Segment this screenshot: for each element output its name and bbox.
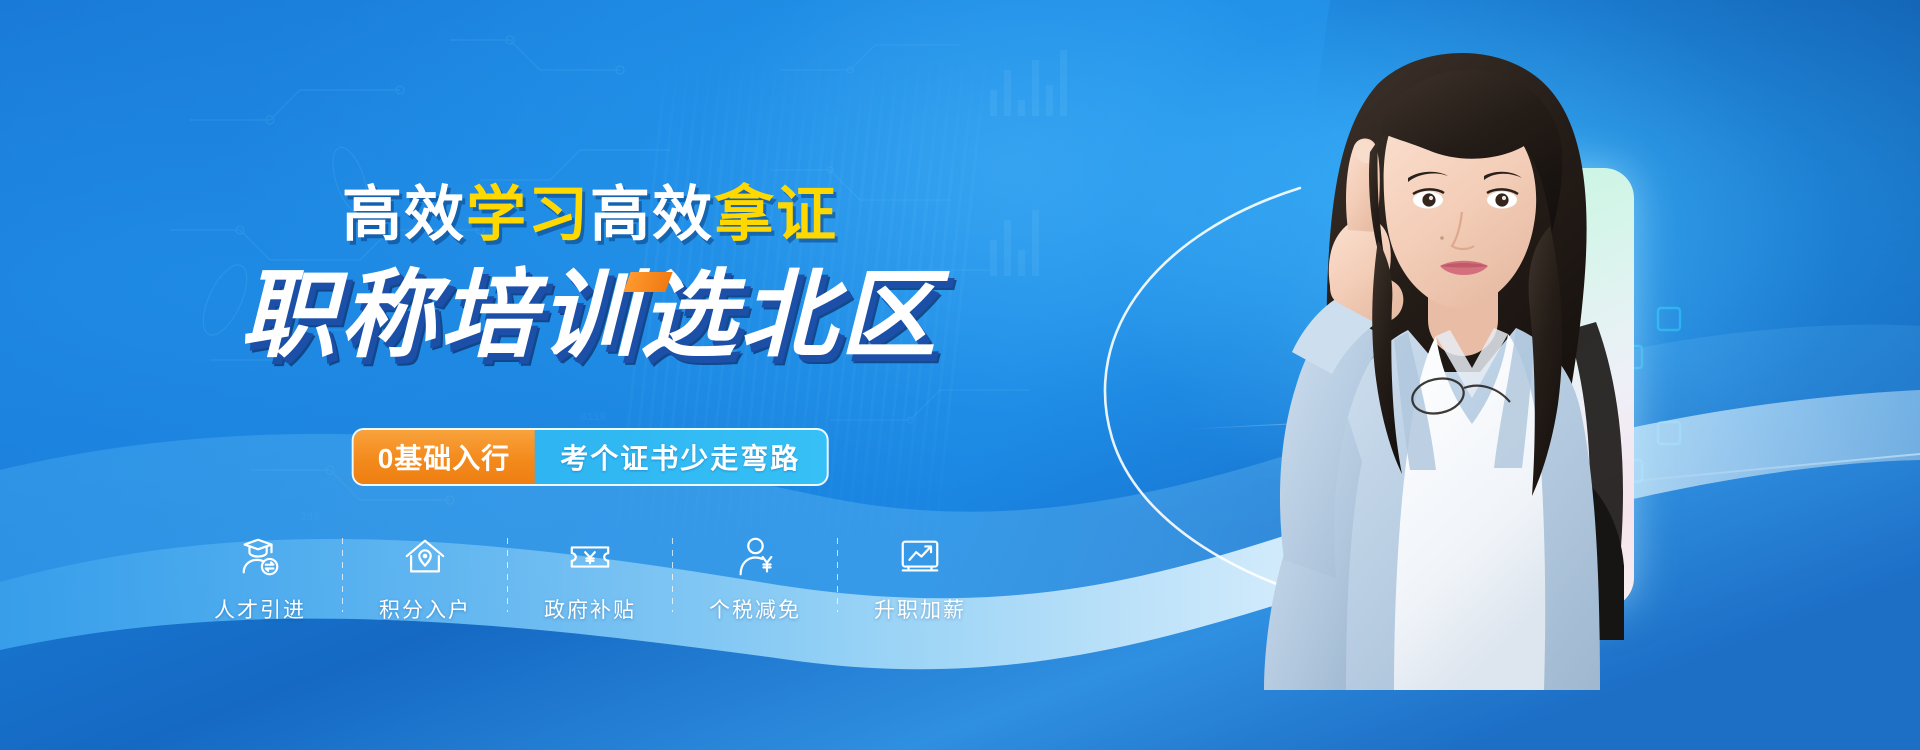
house-pin-icon — [402, 534, 448, 580]
feature-label: 升职加薪 — [874, 594, 966, 624]
feature-item-subsidy[interactable]: 政府补贴 — [508, 534, 672, 624]
model-photo-area — [1180, 0, 1740, 690]
feature-label: 个税减免 — [709, 594, 801, 624]
chart-growth-icon — [897, 534, 943, 580]
main-title: 职称培训选北区 — [0, 268, 1180, 364]
feature-list: 人才引进 积分入户 — [178, 534, 1002, 624]
slogan-badge[interactable]: 0基础入行 考个证书少走弯路 — [352, 428, 829, 486]
headline: 高效学习高效拿证 — [0, 185, 1180, 245]
headline-segment-1: 高效 — [342, 181, 466, 248]
person-yuan-icon — [732, 534, 778, 580]
graduate-person-icon — [237, 534, 283, 580]
feature-label: 政府补贴 — [544, 594, 636, 624]
model-photo — [1180, 0, 1740, 690]
ticket-yuan-icon — [567, 534, 613, 580]
feature-item-residency[interactable]: 积分入户 — [343, 534, 507, 624]
title-accent-mark — [623, 272, 672, 292]
badge-description: 考个证书少走弯路 — [534, 430, 826, 484]
badge-highlight: 0基础入行 — [354, 430, 535, 484]
headline-segment-4: 拿证 — [714, 181, 838, 248]
feature-label: 积分入户 — [379, 594, 471, 624]
banner-content: 高效学习高效拿证 职称培训选北区 0基础入行 考个证书少走弯路 — [0, 0, 1180, 750]
feature-label: 人才引进 — [214, 594, 306, 624]
feature-item-tax[interactable]: 个税减免 — [673, 534, 837, 624]
feature-item-talent[interactable]: 人才引进 — [178, 534, 342, 624]
promo-banner: 239 1011 0110 — [0, 0, 1920, 750]
feature-item-promotion[interactable]: 升职加薪 — [838, 534, 1002, 624]
headline-segment-3: 高效 — [590, 181, 714, 248]
headline-segment-2: 学习 — [466, 181, 590, 248]
